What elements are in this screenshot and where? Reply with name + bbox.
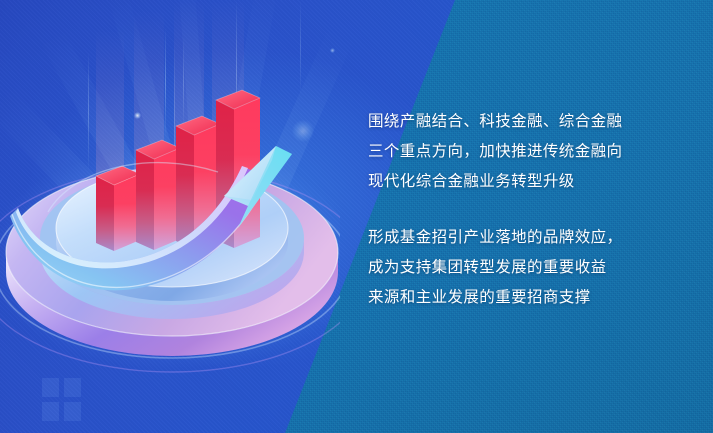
- paragraph-two-line-1: 形成基金招引产业落地的品牌效应，: [368, 222, 622, 252]
- promo-banner: 围绕产融结合、科技金融、综合金融 三个重点方向，加快推进传统金融向 现代化综合金…: [0, 0, 713, 433]
- growth-chart-illustration: [0, 0, 340, 433]
- chart-bar-2: [136, 140, 180, 250]
- paragraph-two: 形成基金招引产业落地的品牌效应， 成为支持集团转型发展的重要收益 来源和主业发展…: [368, 222, 622, 312]
- paragraph-two-line-3: 来源和主业发展的重要招商支撑: [368, 282, 622, 312]
- paragraph-one: 围绕产融结合、科技金融、综合金融 三个重点方向，加快推进传统金融向 现代化综合金…: [368, 106, 622, 196]
- paragraph-two-line-2: 成为支持集团转型发展的重要收益: [368, 252, 622, 282]
- paragraph-one-line-3: 现代化综合金融业务转型升级: [368, 166, 622, 196]
- paragraph-one-line-1: 围绕产融结合、科技金融、综合金融: [368, 106, 622, 136]
- paragraph-one-line-2: 三个重点方向，加快推进传统金融向: [368, 136, 622, 166]
- chart-bar-1: [96, 166, 140, 251]
